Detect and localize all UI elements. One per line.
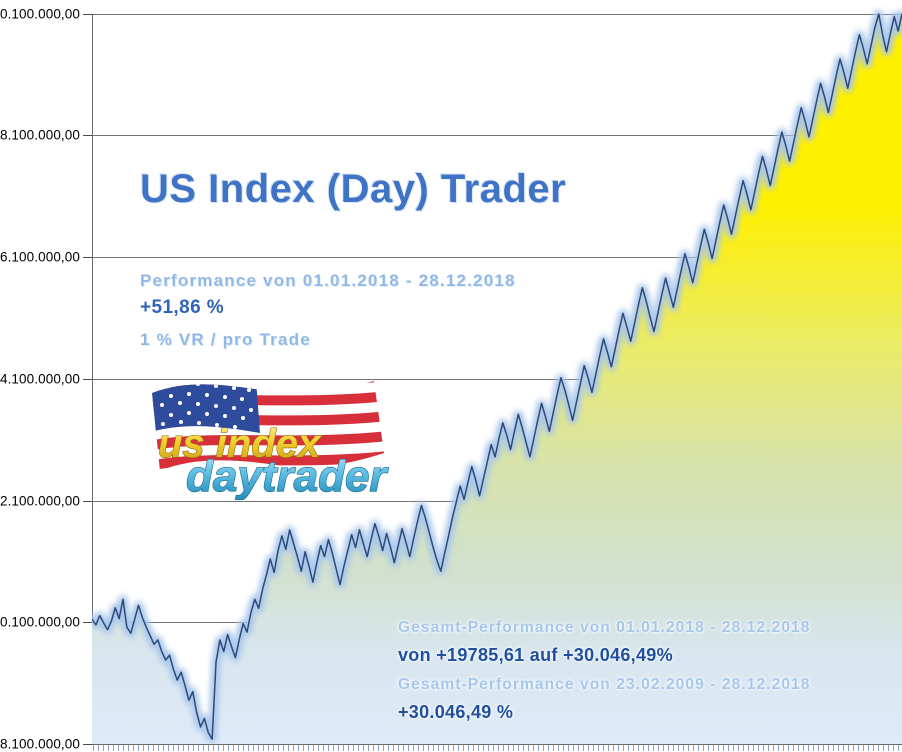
x-axis-ticks: [93, 745, 902, 751]
y-axis-tick: [83, 744, 92, 745]
equity-chart: 30.100.000,00 28.100.000,00 26.100.000,0…: [0, 0, 902, 751]
performance-value: +51,86 %: [140, 297, 224, 319]
page-title: US Index (Day) Trader: [140, 167, 566, 212]
y-axis-tick: [83, 135, 92, 136]
y-axis-tick: [83, 14, 92, 15]
logo-graphic: us index daytrader: [148, 375, 448, 500]
total-performance-heading-2: Gesamt-Performance von 23.02.2009 - 28.1…: [398, 676, 810, 694]
y-axis-label: 26.100.000,00: [0, 250, 80, 265]
y-axis-label: 24.100.000,00: [0, 372, 80, 387]
performance-risk: 1 % VR / pro Trade: [140, 330, 311, 350]
total-performance-heading-1: Gesamt-Performance von 01.01.2018 - 28.1…: [398, 619, 810, 637]
logo-line-2: daytrader: [186, 452, 389, 500]
y-axis-label: 22.100.000,00: [0, 494, 80, 509]
y-axis-tick: [83, 379, 92, 380]
y-axis-tick: [83, 257, 92, 258]
total-performance-value-1: von +19785,61 auf +30.046,49%: [398, 645, 673, 666]
performance-heading: Performance von 01.01.2018 - 28.12.2018: [140, 271, 516, 291]
y-axis-tick: [83, 501, 92, 502]
y-axis-label: 28.100.000,00: [0, 128, 80, 143]
y-axis-tick: [83, 622, 92, 623]
us-index-daytrader-logo: us index daytrader: [148, 375, 448, 500]
y-axis-label: 20.100.000,00: [0, 615, 80, 630]
y-axis: 30.100.000,00 28.100.000,00 26.100.000,0…: [0, 0, 80, 751]
y-axis-label: 18.100.000,00: [0, 737, 80, 752]
total-performance-value-2: +30.046,49 %: [398, 702, 513, 723]
y-axis-label: 30.100.000,00: [0, 7, 80, 22]
